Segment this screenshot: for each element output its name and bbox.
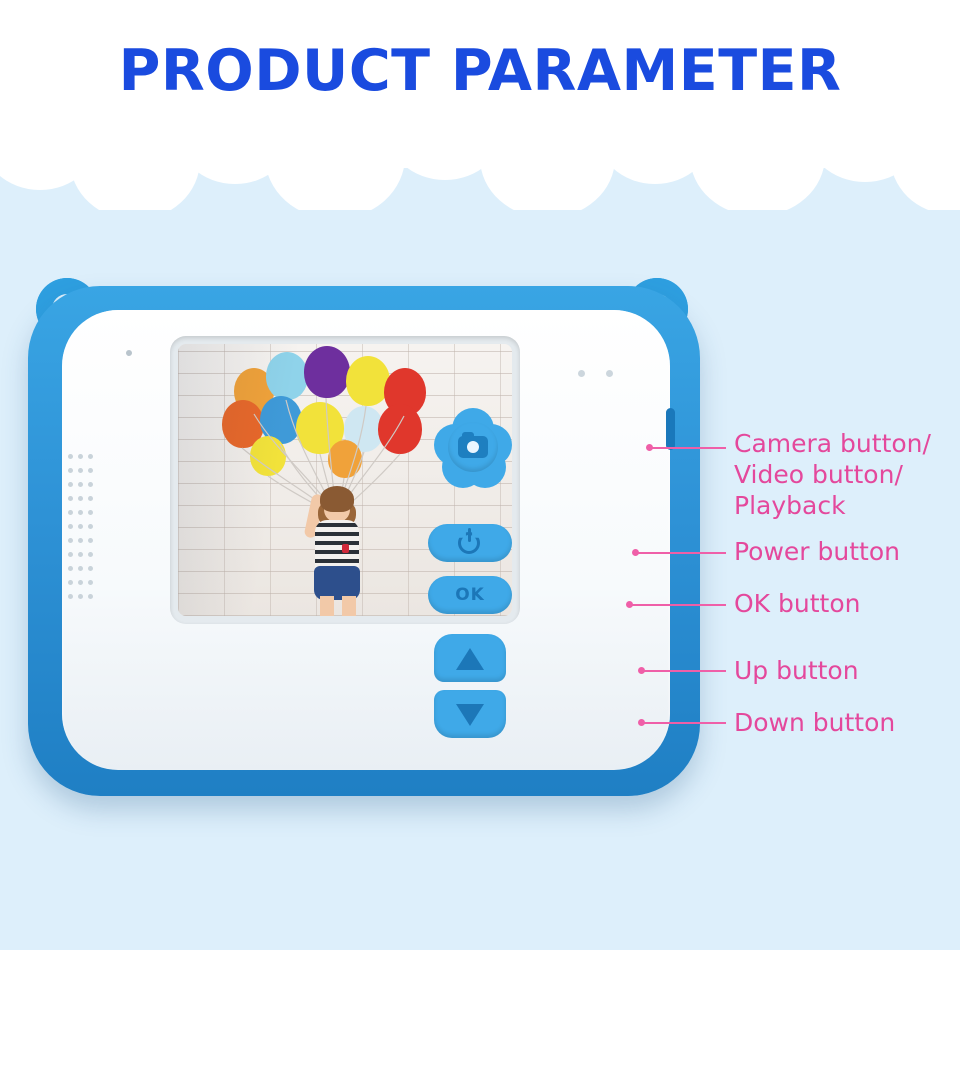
- cloud-scallop-bottom: [0, 860, 960, 950]
- camera-illustration: OK: [28, 258, 708, 818]
- callout-line-up: [642, 670, 726, 672]
- page-title: PRODUCT PARAMETER: [0, 38, 960, 104]
- camera-lens-icon: [467, 441, 479, 453]
- cloud-scallop-top: [0, 120, 960, 210]
- indicator-dots: [578, 370, 632, 378]
- callout-line-camera: [650, 447, 726, 449]
- callout-label-camera: Camera button/ Video button/ Playback: [734, 428, 931, 521]
- down-button[interactable]: [434, 690, 506, 738]
- ok-button[interactable]: OK: [428, 576, 512, 614]
- triangle-up-icon: [456, 648, 484, 670]
- microphone-dot: [126, 350, 132, 356]
- triangle-down-icon: [456, 704, 484, 726]
- power-button[interactable]: [428, 524, 512, 562]
- callout-line-ok: [630, 604, 726, 606]
- callout-label-power: Power button: [734, 536, 900, 567]
- camera-button[interactable]: [434, 408, 512, 486]
- side-button[interactable]: [666, 408, 675, 450]
- power-icon-bar: [468, 528, 471, 542]
- callout-label-ok: OK button: [734, 588, 860, 619]
- callout-label-up: Up button: [734, 655, 859, 686]
- speaker-grille: [68, 454, 94, 614]
- callout-line-down: [642, 722, 726, 724]
- callout-line-power: [636, 552, 726, 554]
- up-button[interactable]: [434, 634, 506, 682]
- callout-label-down: Down button: [734, 707, 895, 738]
